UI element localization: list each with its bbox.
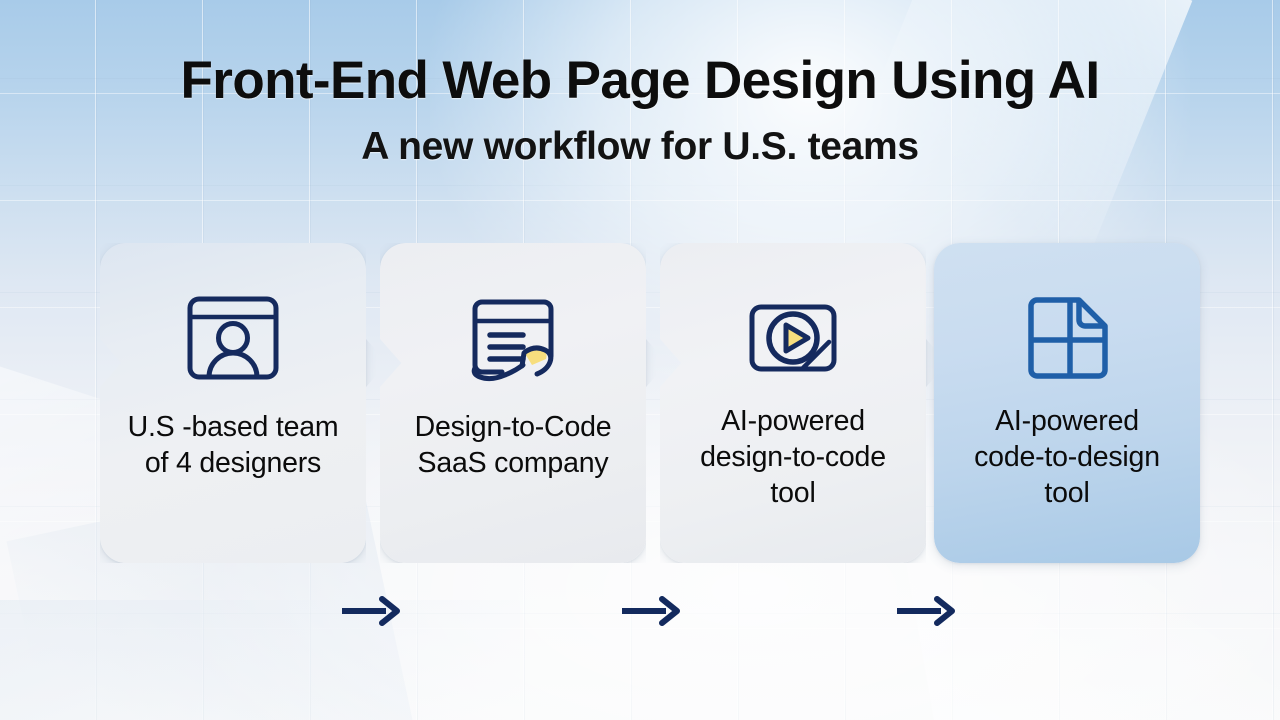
card-label-line2: of 4 designers [108,446,358,482]
card-label-line3: tool [942,476,1192,512]
title-block: Front-End Web Page Design Using AI A new… [0,52,1280,169]
card-label-line1: U.S -based team [108,410,358,446]
arrow-right-icon [340,596,402,626]
arrow-right-icon [620,596,682,626]
card-label-line1: AI-powered [668,404,918,440]
document-with-hand-icon [461,286,565,390]
workflow-row: U.S -based team of 4 designers [0,243,1280,565]
workflow-step-3[interactable]: AI-powered design-to-code tool [660,243,926,563]
background-facet-e [0,600,520,720]
card-label: U.S -based team of 4 designers [108,410,358,482]
card-label: AI-powered code-to-design tool [942,404,1192,512]
workflow-step-2[interactable]: Design-to-Code SaaS company [380,243,646,563]
workflow-step-4[interactable]: AI-powered code-to-design tool [934,243,1200,563]
card-label: Design-to-Code SaaS company [388,410,638,482]
card-label-line2: code-to-design [942,440,1192,476]
slide-canvas: Front-End Web Page Design Using AI A new… [0,0,1280,720]
page-subtitle: A new workflow for U.S. teams [0,126,1280,169]
card-content: Design-to-Code SaaS company [380,243,646,563]
card-label-line2: SaaS company [388,446,638,482]
workflow-step-1[interactable]: U.S -based team of 4 designers [100,243,366,563]
arrow-right-icon [895,596,957,626]
card-content: AI-powered code-to-design tool [934,243,1200,563]
page-title: Front-End Web Page Design Using AI [0,52,1280,109]
document-grid-layout-icon [1015,286,1119,390]
card-content: U.S -based team of 4 designers [100,243,366,563]
card-label-line1: AI-powered [942,404,1192,440]
person-in-window-icon [181,286,285,390]
card-content: AI-powered design-to-code tool [660,243,926,563]
card-label: AI-powered design-to-code tool [668,404,918,512]
play-button-screen-icon [741,286,845,390]
card-label-line3: tool [668,476,918,512]
card-label-line2: design-to-code [668,440,918,476]
card-label-line1: Design-to-Code [388,410,638,446]
